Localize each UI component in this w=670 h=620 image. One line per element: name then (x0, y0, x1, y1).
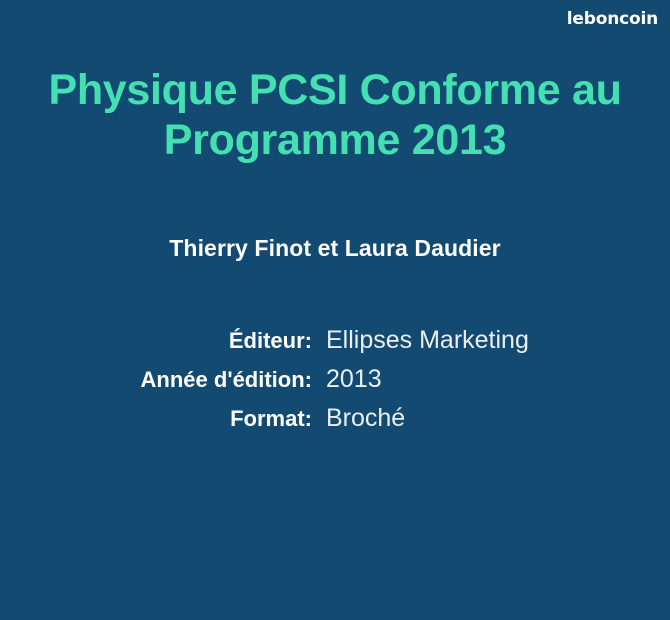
page-title: Physique PCSI Conforme au Programme 2013 (24, 66, 646, 166)
book-listing-card: leboncoin Physique PCSI Conforme au Prog… (0, 0, 670, 620)
detail-value: Broché (312, 404, 405, 433)
detail-row-annee-edition: Année d'édition: 2013 (0, 365, 670, 394)
detail-row-format: Format: Broché (0, 404, 670, 433)
leboncoin-logo[interactable]: leboncoin (567, 11, 658, 28)
detail-value: Ellipses Marketing (312, 326, 529, 355)
book-details-list: Éditeur: Ellipses Marketing Année d'édit… (0, 326, 670, 433)
detail-label: Année d'édition: (0, 367, 312, 393)
detail-label: Éditeur: (0, 328, 312, 354)
detail-row-editeur: Éditeur: Ellipses Marketing (0, 326, 670, 355)
detail-label: Format: (0, 406, 312, 432)
book-authors: Thierry Finot et Laura Daudier (24, 235, 646, 262)
detail-value: 2013 (312, 365, 382, 394)
